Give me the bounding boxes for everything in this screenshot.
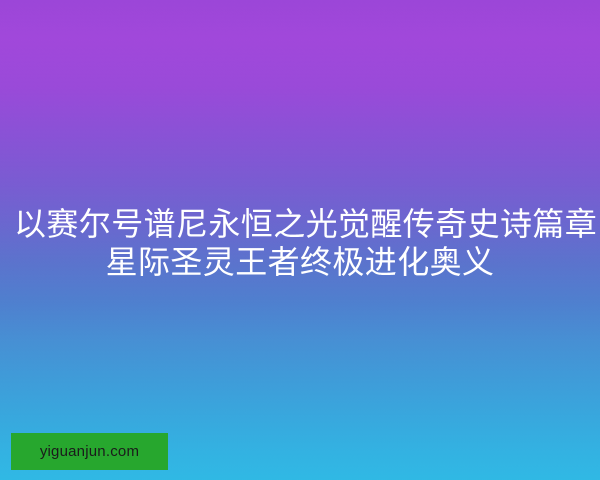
banner-title-line-2: 星际圣灵王者终极进化奥义 <box>14 243 586 281</box>
watermark-badge[interactable]: yiguanjun.com <box>11 433 168 470</box>
promo-banner: 以赛尔号谱尼永恒之光觉醒传奇史诗篇章 星际圣灵王者终极进化奥义 yiguanju… <box>0 0 600 480</box>
banner-title: 以赛尔号谱尼永恒之光觉醒传奇史诗篇章 星际圣灵王者终极进化奥义 <box>0 205 600 281</box>
watermark-label: yiguanjun.com <box>40 444 139 459</box>
banner-title-line-1: 以赛尔号谱尼永恒之光觉醒传奇史诗篇章 <box>14 205 586 243</box>
